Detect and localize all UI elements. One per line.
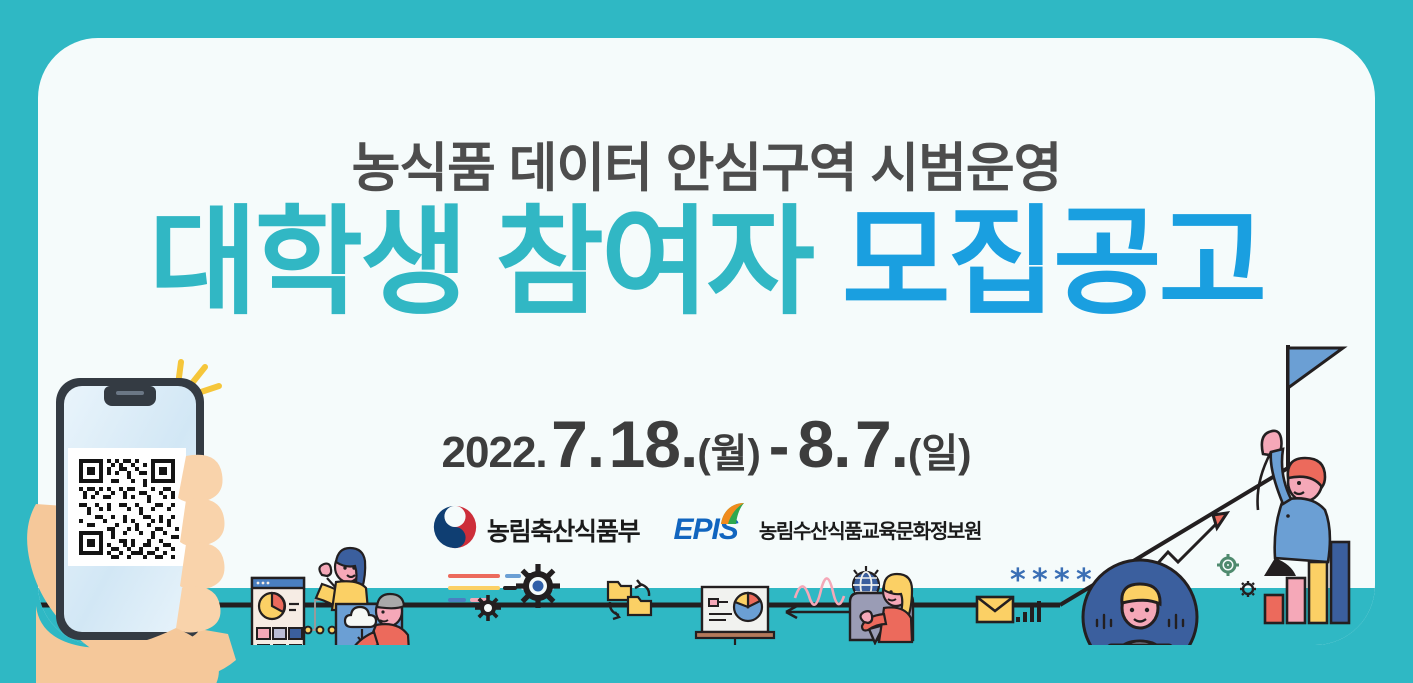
logo-mafra-label: 농림축산식품부 [487,512,640,548]
logo-row: 농림축산식품부 EPIS 농림수산식품교육문화정보원 [38,504,1375,555]
content-card: 농식품 데이터 안심구역 시범운영 대학생 참여자 모집공고 2022. 7. … [38,38,1375,645]
epis-logo-icon: EPIS [673,513,737,547]
date-end-day: 7. [855,407,908,481]
date-start-day: 18. [609,407,698,481]
logo-epis: EPIS 농림수산식품교육문화정보원 [673,513,981,547]
date-year: 2022. [442,428,547,477]
logo-mafra: 농림축산식품부 [432,504,640,555]
date-end-month: 8. [797,407,850,481]
event-date-range: 2022. 7. 18.(월)-8. 7.(일) [38,406,1375,482]
date-separator: - [761,412,798,481]
date-start-month: 7. [551,407,604,481]
taegeuk-icon [432,504,478,555]
title-part-1: 대학생 참여자 [149,197,812,329]
logo-epis-label: 농림수산식품교육문화정보원 [759,515,981,544]
date-end-dow: (일) [908,432,971,476]
promotional-banner: 농식품 데이터 안심구역 시범운영 대학생 참여자 모집공고 2022. 7. … [0,0,1413,683]
banner-title: 대학생 참여자 모집공고 [38,190,1375,338]
title-part-2: 모집공고 [842,197,1264,329]
date-start-dow: (월) [697,432,760,476]
epis-swoosh-icon [717,502,747,526]
